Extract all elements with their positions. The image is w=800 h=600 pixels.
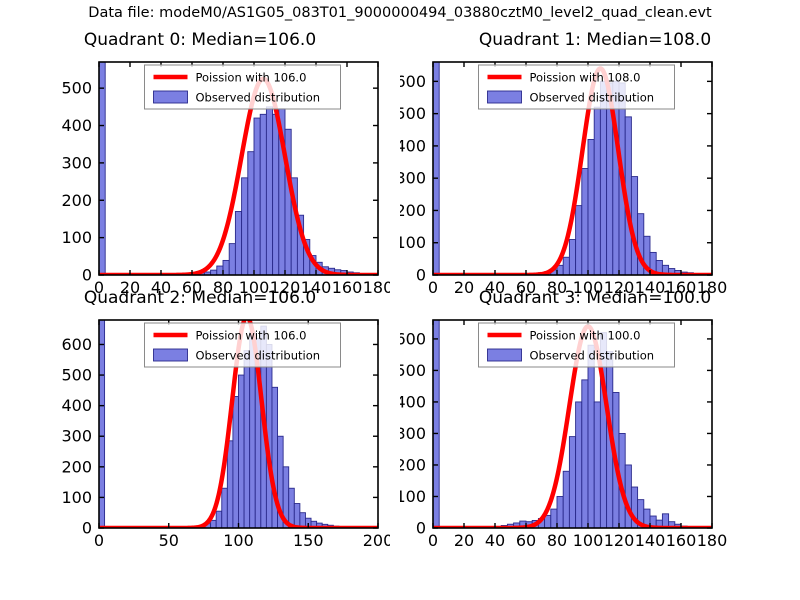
legend-label: Poission with 106.0 (196, 329, 307, 343)
x-tick-label: 120 (604, 531, 635, 548)
y-tick-label: 400 (61, 116, 92, 135)
y-tick-label: 600 (400, 329, 426, 348)
y-tick-label: 500 (61, 79, 92, 98)
subplot-quadrant-3: Quadrant 3: Median=100.00204060801001201… (400, 288, 790, 548)
y-tick-label: 100 (400, 487, 426, 506)
legend[interactable]: Poission with 100.0Observed distribution (479, 323, 675, 367)
y-tick-label: 100 (400, 233, 426, 252)
subplot-quadrant-0: Quadrant 0: Median=106.00204060801001201… (10, 30, 390, 295)
y-tick-label: 600 (400, 72, 426, 91)
x-tick-label: 180 (697, 531, 728, 548)
y-tick-label: 500 (400, 104, 426, 123)
legend-label: Poission with 100.0 (530, 329, 641, 343)
y-tick-label: 100 (61, 228, 92, 247)
legend-label: Observed distribution (196, 349, 321, 363)
y-tick-label: 500 (400, 361, 426, 380)
y-tick-label: 600 (61, 335, 92, 354)
x-tick-label: 0 (428, 531, 438, 548)
y-tick-label: 0 (416, 266, 426, 285)
subplot-quadrant-1: Quadrant 1: Median=108.00204060801001201… (400, 30, 790, 295)
figure-suptitle: Data file: modeM0/AS1G05_083T01_90000004… (0, 5, 800, 21)
x-tick-label: 140 (635, 531, 666, 548)
legend[interactable]: Poission with 108.0Observed distribution (479, 65, 675, 109)
subplot-quadrant-2: Quadrant 2: Median=106.00501001502000100… (10, 288, 390, 548)
legend-label: Observed distribution (196, 91, 321, 105)
y-tick-label: 300 (61, 153, 92, 172)
legend-label: Observed distribution (530, 349, 655, 363)
y-tick-label: 0 (82, 519, 92, 538)
plot-area-quadrant-3: 0204060801001201401601800100200300400500… (400, 288, 790, 548)
y-tick-label: 200 (61, 457, 92, 476)
x-tick-label: 80 (547, 531, 567, 548)
y-tick-label: 400 (61, 396, 92, 415)
y-tick-label: 300 (400, 424, 426, 443)
x-tick-label: 20 (454, 531, 474, 548)
y-tick-label: 200 (400, 201, 426, 220)
y-tick-label: 200 (400, 455, 426, 474)
legend-swatch-patch (154, 349, 188, 361)
legend-label: Poission with 108.0 (530, 71, 641, 85)
y-tick-label: 200 (61, 191, 92, 210)
plot-area-quadrant-0: 0204060801001201401601800100200300400500… (10, 30, 390, 295)
legend-swatch-patch (488, 349, 522, 361)
x-tick-label: 40 (485, 531, 505, 548)
y-tick-label: 500 (61, 366, 92, 385)
x-tick-label: 0 (94, 531, 104, 548)
plot-area-quadrant-2: 0501001502000100200300400500600Poission … (10, 288, 390, 548)
legend-label: Poission with 106.0 (196, 71, 307, 85)
figure-canvas: Data file: modeM0/AS1G05_083T01_90000004… (0, 0, 800, 600)
x-tick-label: 200 (363, 531, 390, 548)
x-tick-label: 160 (666, 531, 697, 548)
legend-swatch-patch (154, 91, 188, 103)
legend[interactable]: Poission with 106.0Observed distribution (145, 65, 341, 109)
legend[interactable]: Poission with 106.0Observed distribution (145, 323, 341, 367)
y-tick-label: 0 (416, 519, 426, 538)
x-tick-label: 100 (223, 531, 254, 548)
legend-swatch-patch (488, 91, 522, 103)
plot-area-quadrant-1: 0204060801001201401601800100200300400500… (400, 30, 790, 295)
x-tick-label: 100 (573, 531, 604, 548)
y-tick-label: 100 (61, 488, 92, 507)
y-tick-label: 0 (82, 266, 92, 285)
y-tick-label: 300 (400, 169, 426, 188)
y-tick-label: 400 (400, 136, 426, 155)
y-tick-label: 300 (61, 427, 92, 446)
legend-label: Observed distribution (530, 91, 655, 105)
x-tick-label: 50 (159, 531, 179, 548)
y-tick-label: 400 (400, 392, 426, 411)
x-tick-label: 150 (293, 531, 324, 548)
x-tick-label: 60 (516, 531, 536, 548)
